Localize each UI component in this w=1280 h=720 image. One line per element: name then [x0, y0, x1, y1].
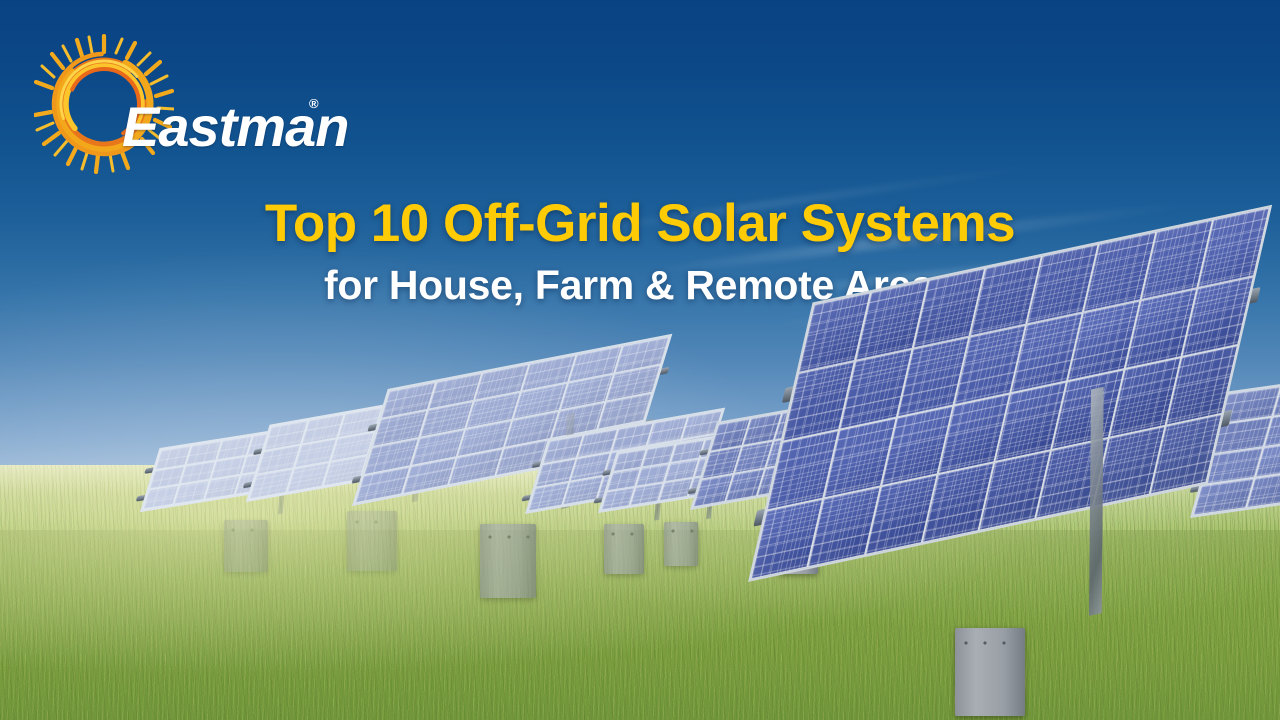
- grass-field: [0, 465, 1280, 720]
- headline-block: Top 10 Off-Grid Solar Systems for House,…: [0, 196, 1280, 308]
- headline-primary: Top 10 Off-Grid Solar Systems: [0, 196, 1280, 253]
- registered-trademark-icon: ®: [309, 96, 319, 111]
- hero-banner: Eastman ® Top 10 Off-Grid Solar Systems …: [0, 0, 1280, 720]
- headline-secondary: for House, Farm & Remote Areas: [0, 263, 1280, 308]
- brand-logo[interactable]: Eastman ®: [34, 34, 324, 164]
